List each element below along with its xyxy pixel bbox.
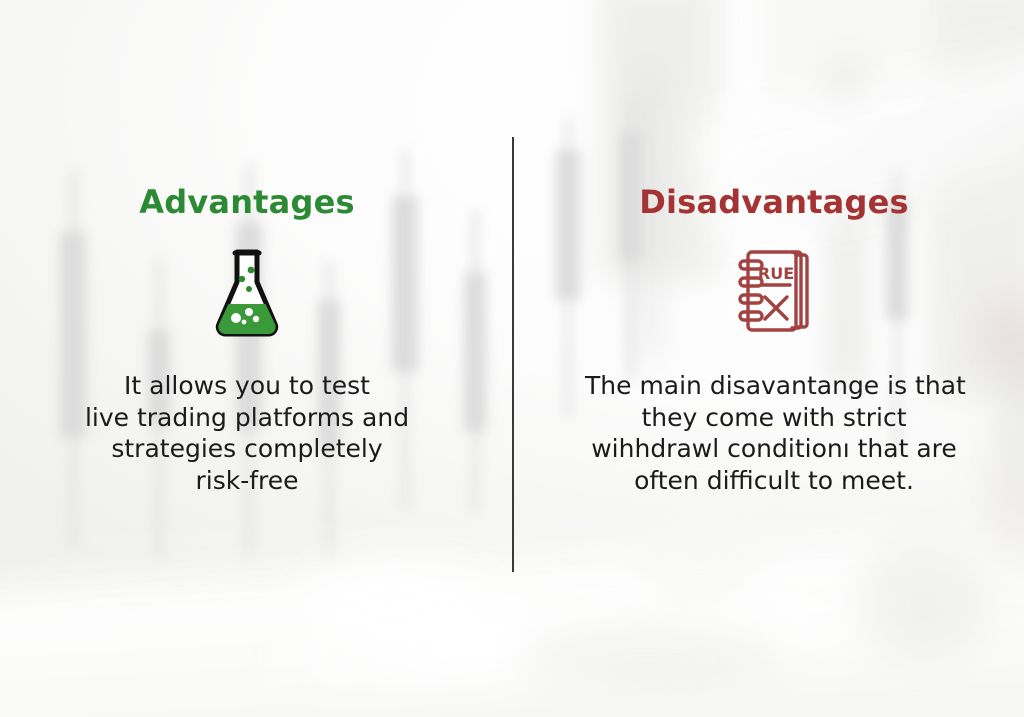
notebook-rules-x-icon: RUE xyxy=(732,244,816,340)
advantages-heading: Advantages xyxy=(139,186,354,218)
disadvantages-column: Disadvantages xyxy=(512,0,1024,717)
body-line: The main disavantange is that xyxy=(585,370,963,402)
body-line: often difficult to meet. xyxy=(585,465,963,497)
notebook-label: RUE xyxy=(758,264,794,283)
advantages-body-text: It allows you to test live trading platf… xyxy=(85,370,409,496)
body-line: It allows you to test xyxy=(85,370,409,402)
comparison-columns: Advantages xyxy=(0,0,1024,717)
flask-icon xyxy=(211,244,283,340)
body-line: risk-free xyxy=(85,465,409,497)
disadvantages-body-text: The main disavantange is that they come … xyxy=(585,370,963,496)
slide-canvas: Advantages xyxy=(0,0,1024,717)
body-line: strategies completely xyxy=(85,433,409,465)
disadvantages-heading: Disadvantages xyxy=(639,186,908,218)
body-line: they come with strict xyxy=(585,402,963,434)
advantages-column: Advantages xyxy=(0,0,512,717)
body-line: live trading platforms and xyxy=(85,402,409,434)
body-line: wihhdrawl conditionı that are xyxy=(585,433,963,465)
